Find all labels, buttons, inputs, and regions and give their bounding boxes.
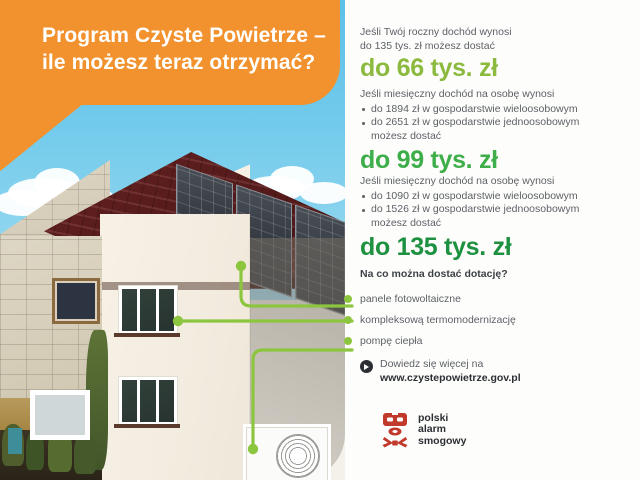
list-item: kompleksową termomodernizację	[360, 311, 632, 329]
bullet-dot-icon	[344, 316, 352, 324]
window-sill	[114, 333, 180, 337]
content-column: Jeśli Twój roczny dochód wynosi do 135 t…	[360, 0, 640, 480]
smog-alarm-mask-icon	[382, 412, 408, 448]
infographic-canvas: Program Czyste Powietrze – ile możesz te…	[0, 0, 640, 480]
subsidy-label: panele fotowoltaiczne	[360, 293, 461, 305]
tier-2-closing: możesz dostać	[360, 130, 632, 144]
arrow-circle-right-icon	[360, 360, 373, 373]
cloud	[300, 182, 345, 204]
logo: polski alarm smogowy	[382, 412, 466, 448]
list-item: panele fotowoltaiczne	[360, 290, 632, 308]
tier-2-lead: Jeśli miesięczny dochód na osobę wynosi	[360, 88, 632, 102]
heat-pump-unit	[243, 424, 331, 480]
subsidy-label: pompę ciepła	[360, 335, 422, 347]
list-item: do 2651 zł w gospodarstwie jednoosobowym	[360, 116, 632, 130]
tier-block-3: Jeśli miesięczny dochód na osobę wynosi …	[360, 175, 632, 262]
subsidies-section: Na co można dostać dotację? panele fotow…	[360, 268, 632, 353]
tier-block-2: Jeśli miesięczny dochód na osobę wynosi …	[360, 88, 632, 175]
tier-1-lead: Jeśli Twój roczny dochód wynosi do 135 t…	[360, 26, 632, 53]
list-item: pompę ciepła	[360, 332, 632, 350]
more-info[interactable]: Dowiedz się więcej na www.czystepowietrz…	[360, 358, 632, 385]
window-sill	[114, 424, 180, 428]
tier-3-lead: Jeśli miesięczny dochód na osobę wynosi	[360, 175, 632, 189]
tier-3-bullets: do 1090 zł w gospodarstwie wieloosobowym…	[360, 190, 632, 231]
old-window	[30, 390, 90, 440]
list-item: do 1526 zł w gospodarstwie jednoosobowym	[360, 203, 632, 217]
tier-block-1: Jeśli Twój roczny dochód wynosi do 135 t…	[360, 26, 632, 83]
insulated-wall	[100, 214, 250, 480]
logo-text: polski alarm smogowy	[418, 413, 466, 448]
website-url[interactable]: www.czystepowietrze.gov.pl	[380, 371, 521, 385]
subsidy-label: kompleksową termomodernizację	[360, 314, 516, 326]
new-window	[118, 285, 178, 335]
old-window	[52, 278, 100, 324]
logo-line-3: smogowy	[418, 436, 466, 448]
subsidies-list: panele fotowoltaiczne kompleksową termom…	[360, 290, 632, 350]
new-window	[118, 376, 178, 426]
heat-pump-fan-icon	[276, 434, 320, 478]
bullet-dot-icon	[344, 295, 352, 303]
more-info-label: Dowiedz się więcej na	[380, 358, 521, 371]
tier-1-amount: do 66 tys. zł	[360, 53, 632, 83]
bullet-dot-icon	[344, 337, 352, 345]
list-item: do 1090 zł w gospodarstwie wieloosobowym	[360, 190, 632, 204]
blue-door	[8, 428, 22, 454]
tier-3-closing: możesz dostać	[360, 217, 632, 231]
page-title: Program Czyste Powietrze – ile możesz te…	[42, 22, 332, 76]
list-item: do 1894 zł w gospodarstwie wieloosobowym	[360, 103, 632, 117]
subsidies-title: Na co można dostać dotację?	[360, 268, 632, 280]
tier-2-amount: do 99 tys. zł	[360, 145, 632, 175]
tier-3-amount: do 135 tys. zł	[360, 232, 632, 262]
tier-2-bullets: do 1894 zł w gospodarstwie wieloosobowym…	[360, 103, 632, 144]
